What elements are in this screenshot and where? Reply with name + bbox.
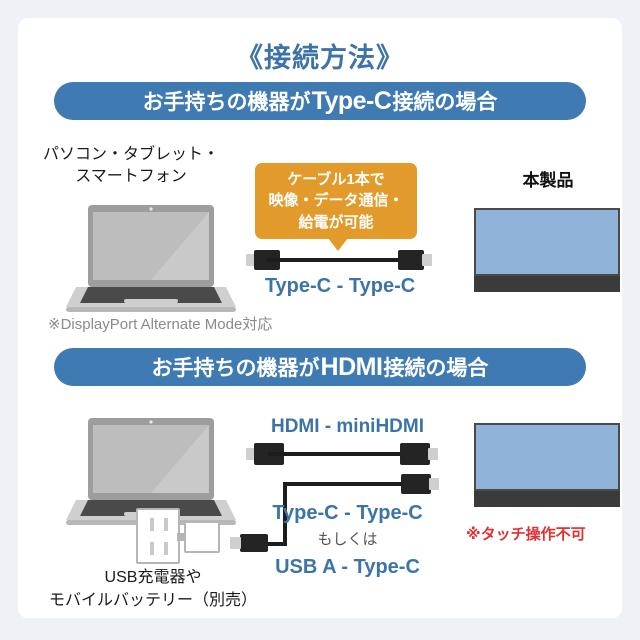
outlet-slot <box>164 518 168 531</box>
cable-label-hdmi-minihdmi: HDMI - miniHDMI <box>240 416 455 438</box>
banner-hdmi-section: お手持ちの機器がHDMI接続の場合 <box>54 348 586 386</box>
cable-label-typec-typec: Type-C - Type-C <box>240 275 440 298</box>
outlet-slot <box>150 518 154 531</box>
cable-wire <box>266 258 412 262</box>
monitor-screen <box>474 423 620 491</box>
monitor-base <box>474 276 620 292</box>
power-cable-connector-right <box>401 474 431 494</box>
usb-charger-icon <box>184 521 220 553</box>
cable-label-usba-typec: USB A - Type-C <box>240 556 455 579</box>
power-cable-wire-horizontal <box>283 482 403 486</box>
cable-connector-tip <box>428 448 438 460</box>
monitor-icon <box>474 423 620 509</box>
banner-hdmi-emphasis: HDMI <box>320 353 384 382</box>
banner-hdmi-suffix: 接続の場合 <box>383 352 488 382</box>
banner-typec-prefix: お手持ちの機器が <box>143 86 311 116</box>
cable-wire <box>268 452 414 456</box>
infographic-card: 《接続方法》 お手持ちの機器がType-C接続の場合 パソコン・タブレット・ ス… <box>18 18 622 618</box>
note-touch-unavailable: ※タッチ操作不可 <box>466 523 636 544</box>
cable-connector-tip <box>422 254 432 266</box>
charger-caption: USB充電器や モバイルバッテリー（別売） <box>38 566 268 612</box>
note-displayport-alt-mode: ※DisplayPort Alternate Mode対応 <box>48 313 408 334</box>
monitor-screen <box>474 208 620 276</box>
feature-callout-bubble: ケーブル1本で 映像・データ通信・ 給電が可能 <box>255 163 417 239</box>
banner-typec-section: お手持ちの機器がType-C接続の場合 <box>54 82 586 120</box>
outlet-plate <box>136 508 180 564</box>
banner-hdmi-prefix: お手持ちの機器が <box>152 352 320 382</box>
cable-label-typec-typec-power: Type-C - Type-C <box>240 502 455 525</box>
charger-body <box>184 521 220 553</box>
banner-typec-emphasis: Type-C <box>311 87 393 116</box>
cable-connector-right <box>398 250 424 270</box>
monitor-base <box>474 491 620 507</box>
page-title: 《接続方法》 <box>18 36 622 75</box>
cable-connector-tip <box>429 478 439 490</box>
outlet-slot <box>150 542 154 555</box>
cable-label-alternative-separator: もしくは <box>240 528 455 549</box>
device-label-typec: パソコン・タブレット・ スマートフォン <box>26 144 236 187</box>
cable-connector-right <box>400 443 430 465</box>
bubble-tail <box>328 238 348 251</box>
charger-prong <box>177 533 185 541</box>
banner-typec-suffix: 接続の場合 <box>392 86 497 116</box>
power-outlet-icon <box>136 508 180 564</box>
monitor-icon <box>474 208 620 294</box>
laptop-icon <box>66 203 236 319</box>
product-label: 本製品 <box>473 166 623 191</box>
outlet-slot <box>164 542 168 555</box>
